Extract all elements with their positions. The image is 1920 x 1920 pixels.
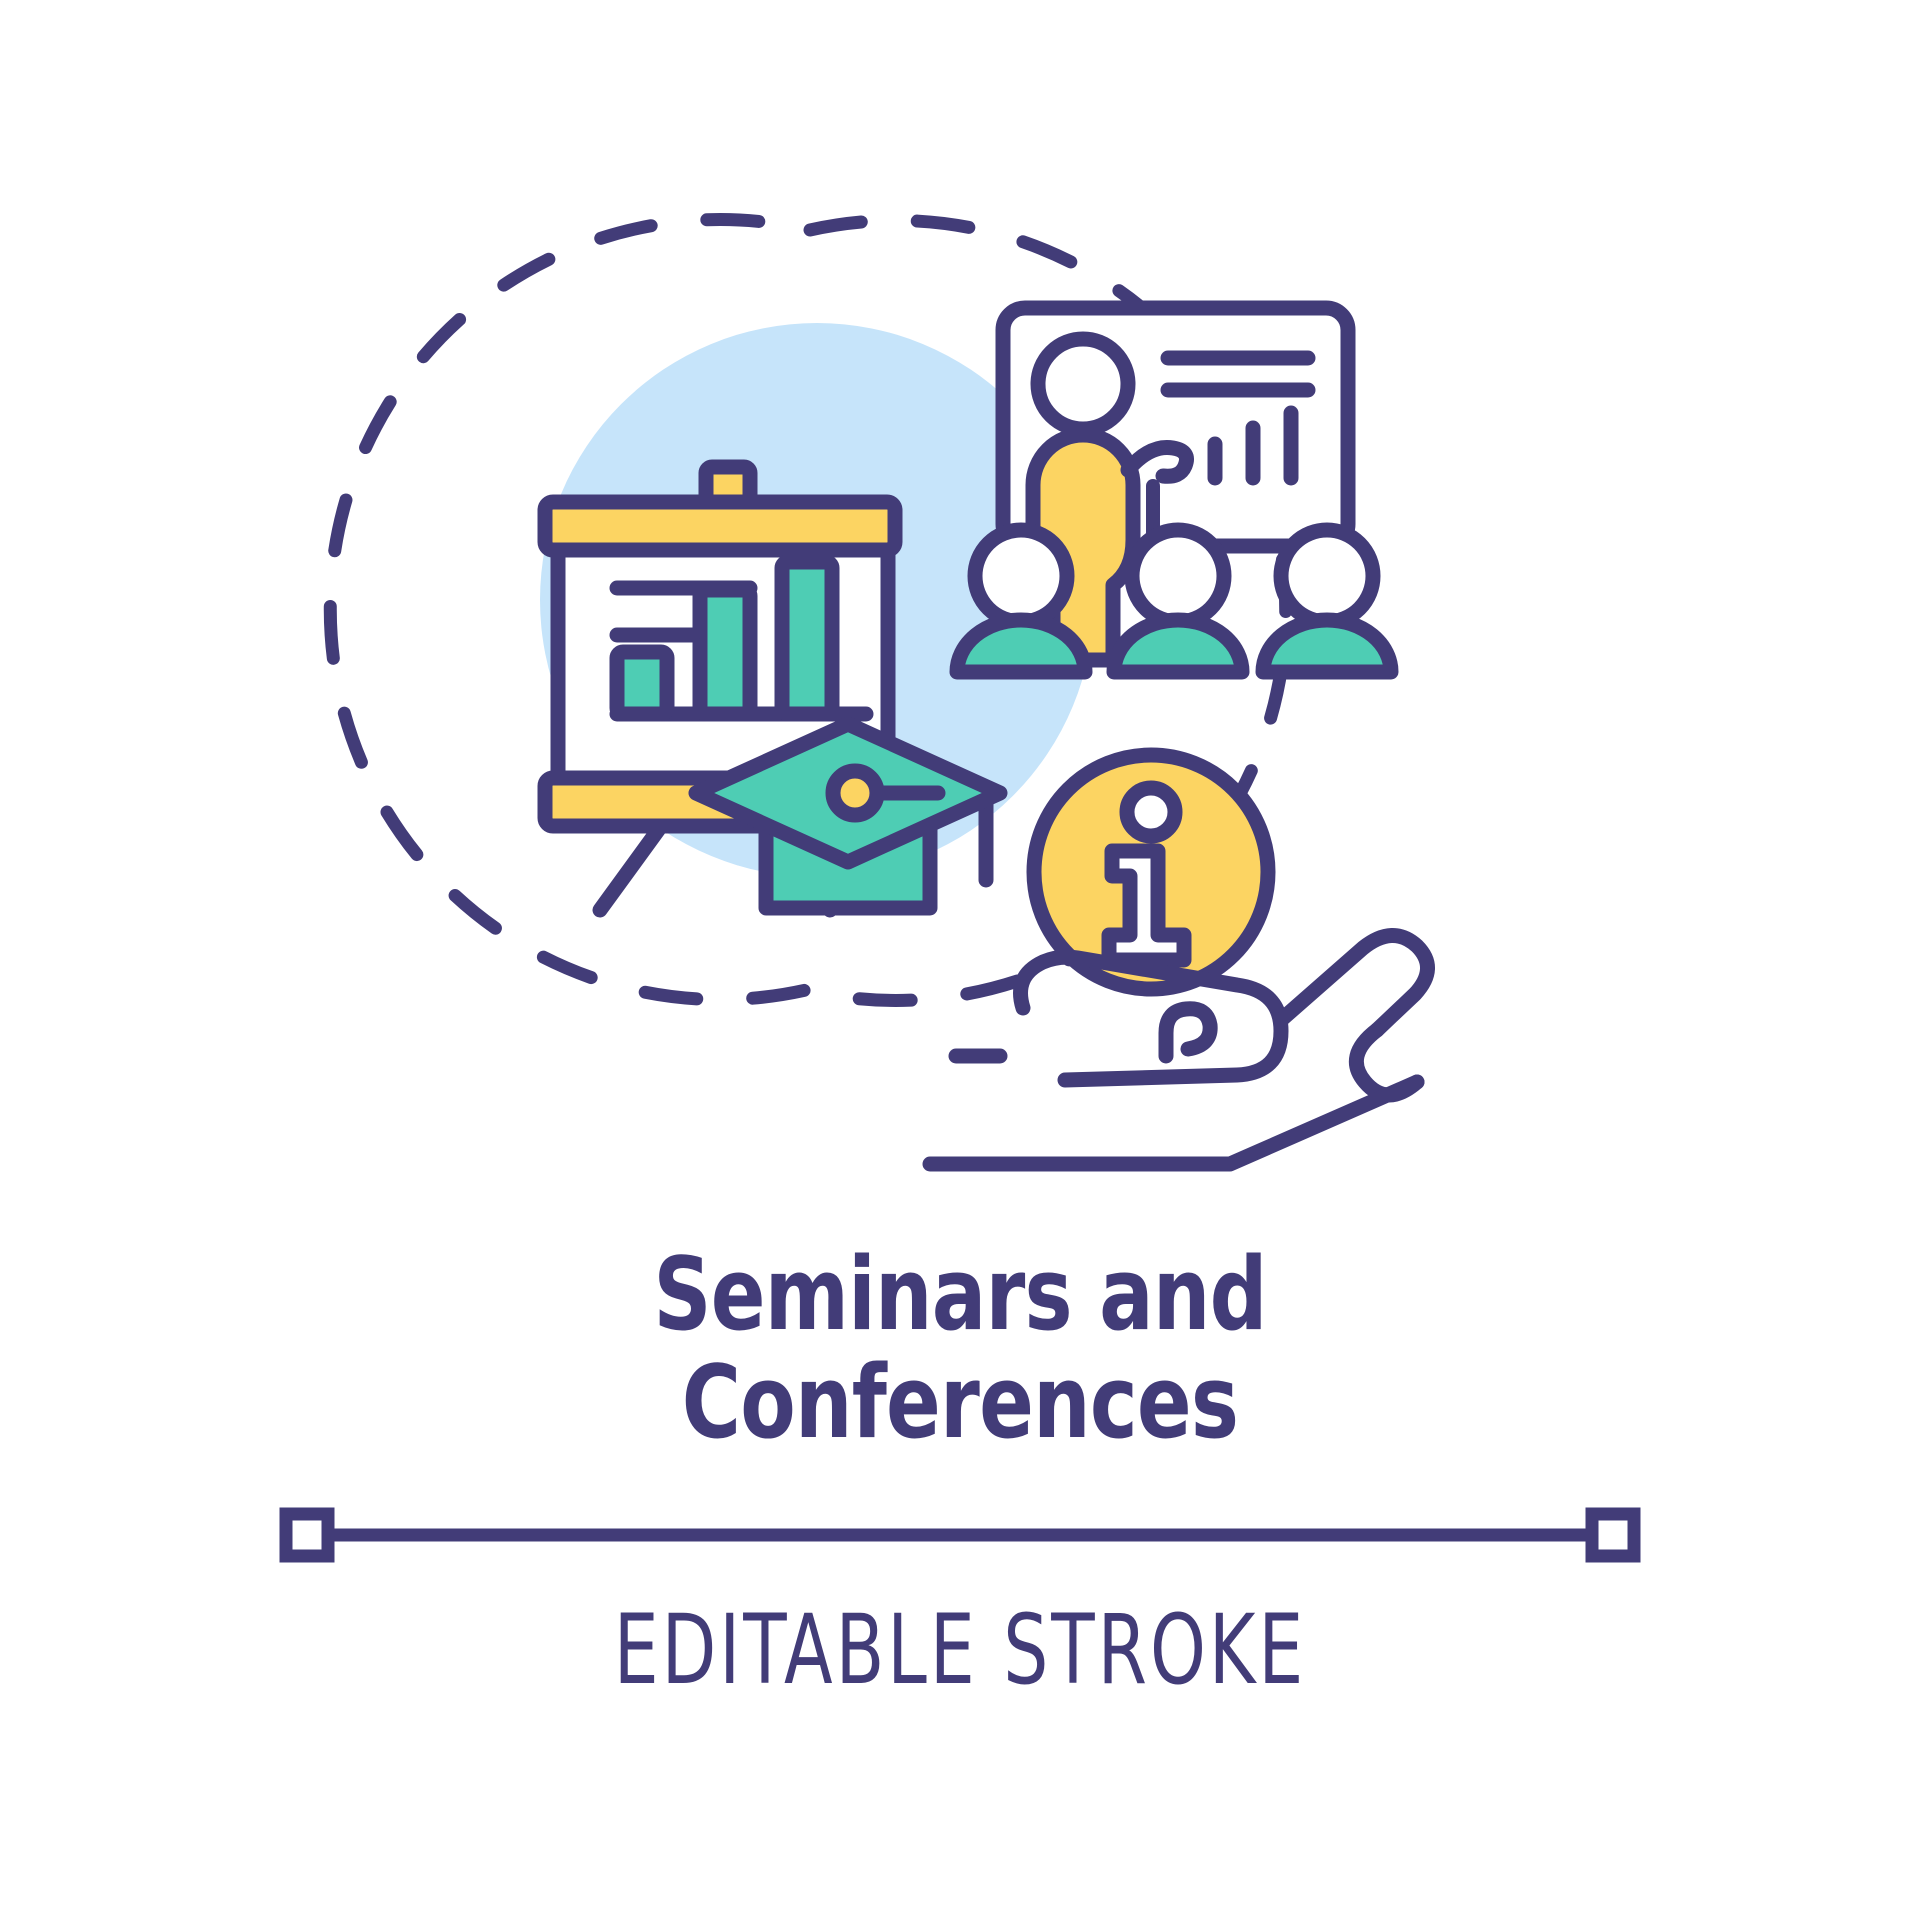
board-top-bar	[545, 502, 895, 550]
board-bar-2	[700, 590, 750, 714]
presenter-head	[1038, 339, 1128, 429]
concept-title-line-1: Seminars and	[192, 1240, 1728, 1348]
audience-head-middle	[1132, 530, 1224, 622]
open-hand	[930, 935, 1428, 1164]
concept-title: Seminars and Conferences	[0, 1240, 1920, 1456]
cap-button	[833, 771, 877, 815]
audience-head-right	[1281, 530, 1373, 622]
presenter-screen-group	[957, 308, 1391, 672]
illustration-canvas	[0, 0, 1920, 1260]
hand-thumb-fold	[1166, 1009, 1210, 1056]
board-bar-1	[617, 652, 667, 714]
concept-title-line-2: Conferences	[192, 1348, 1728, 1456]
info-badge-dot	[1127, 788, 1175, 836]
editable-stroke-caption: EDITABLE STROKE	[0, 1600, 1920, 1700]
board-bar-3	[782, 562, 832, 714]
rule-handle-right[interactable]	[1592, 1514, 1634, 1556]
concept-icon-poster: Seminars and Conferences EDITABLE STROKE	[0, 0, 1920, 1920]
editable-stroke-label: EDITABLE STROKE	[250, 1600, 1671, 1700]
hand-lower-edge	[930, 1082, 1417, 1164]
editable-stroke-rule	[0, 1500, 1920, 1570]
audience-shoulders-left	[957, 620, 1085, 672]
hand-palm-outline	[1021, 957, 1282, 1080]
audience-shoulders-right	[1263, 620, 1391, 672]
rule-handle-left[interactable]	[286, 1514, 328, 1556]
audience-shoulders-middle	[1114, 620, 1242, 672]
audience-head-left	[975, 530, 1067, 622]
hand-back-edge	[1281, 935, 1428, 1030]
